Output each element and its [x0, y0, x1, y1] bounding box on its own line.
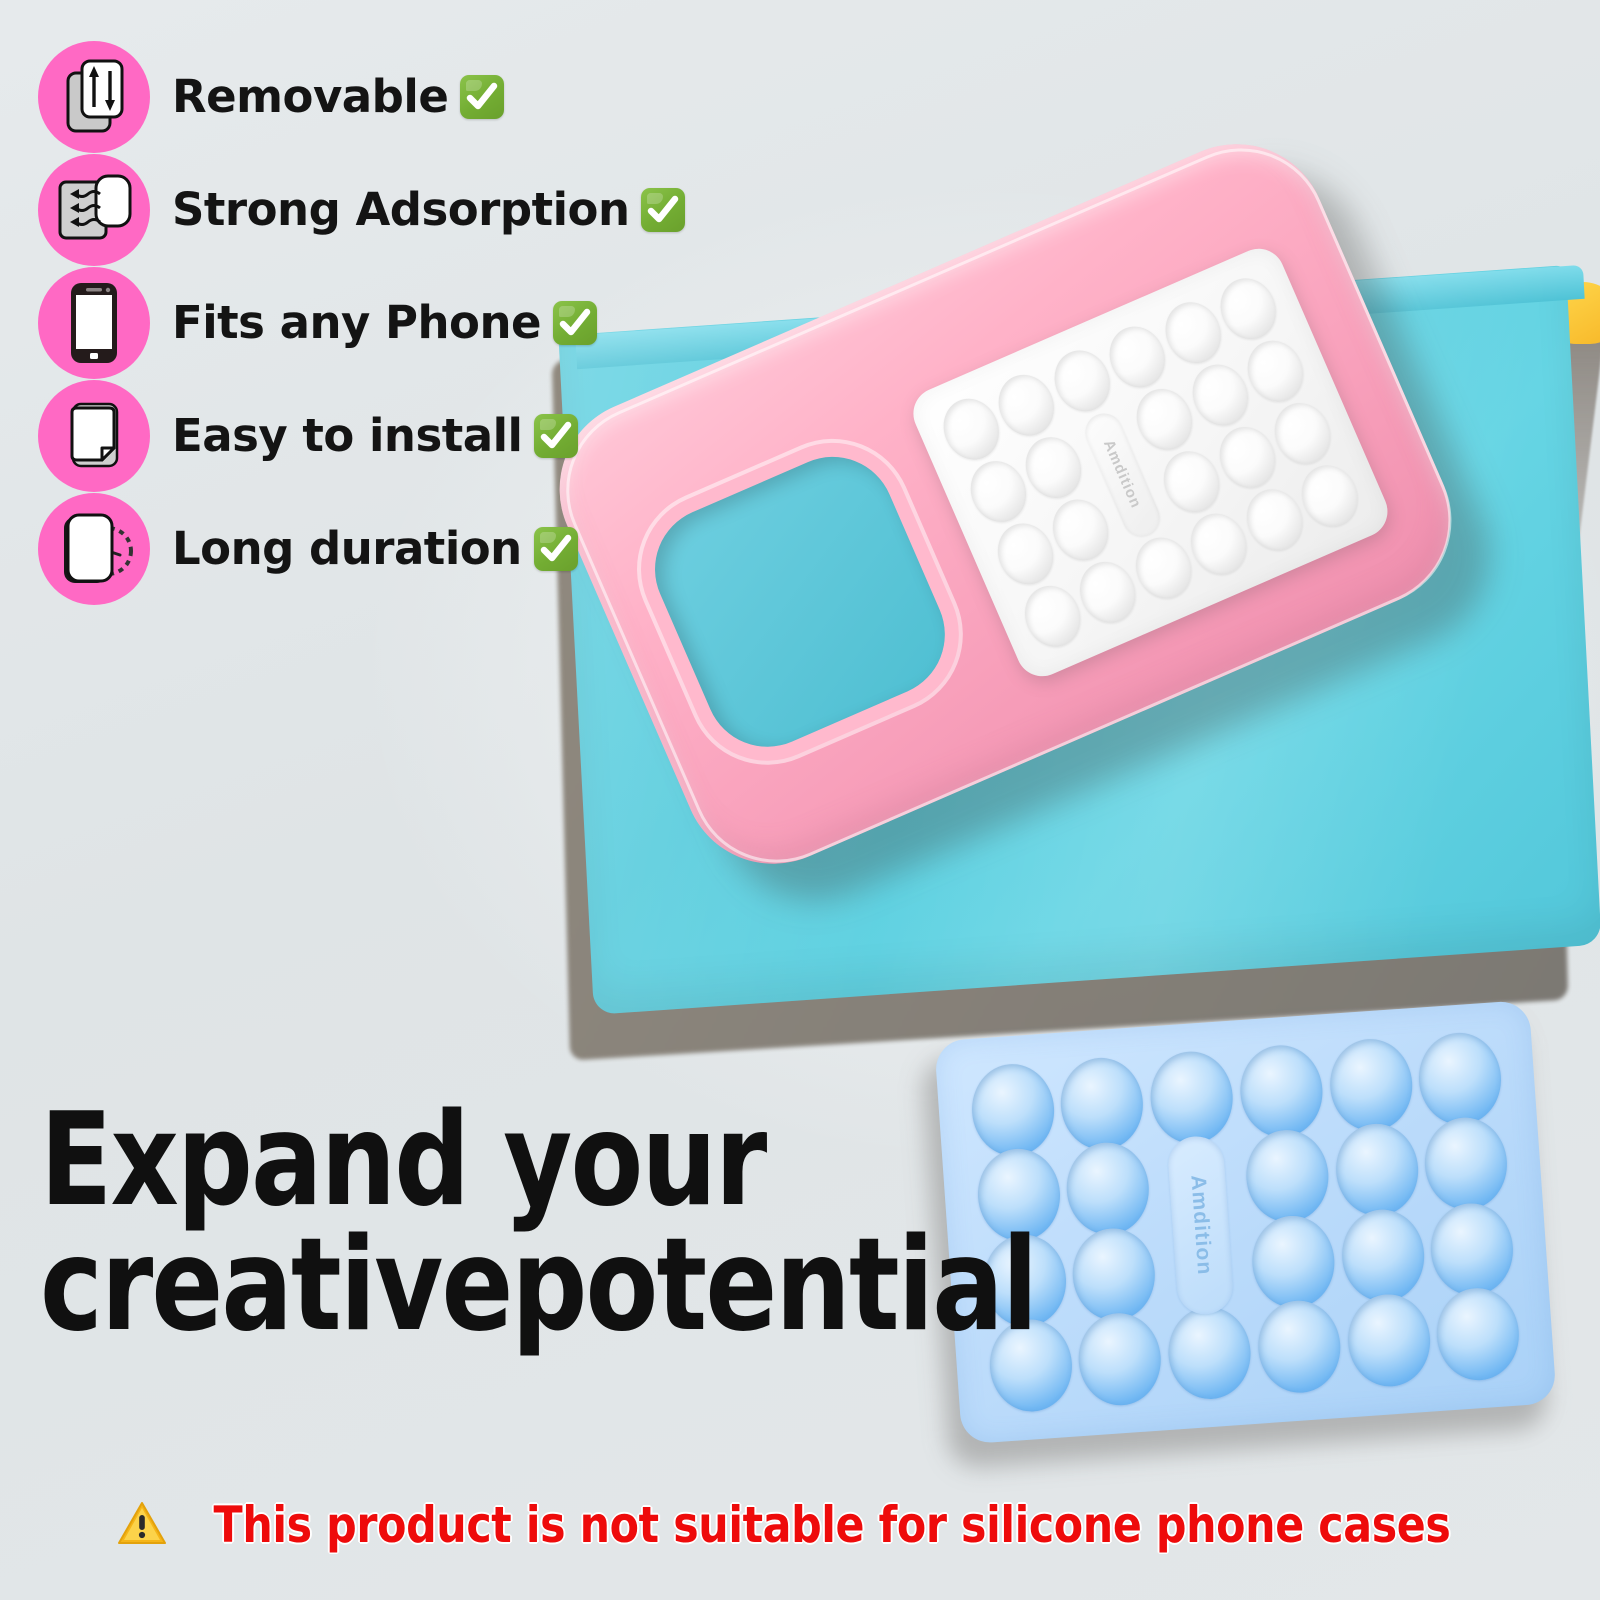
suction-cup [1016, 577, 1090, 655]
suction-cup [1237, 1043, 1325, 1140]
phone-clock-icon [38, 493, 150, 605]
warning-banner: This product is not suitable for silicon… [0, 1496, 1600, 1554]
adsorption-waves-icon [38, 154, 150, 266]
suction-cup [1127, 380, 1201, 458]
camera-cutout [635, 437, 964, 766]
smartphone-icon [38, 267, 150, 379]
warning-triangle-icon [117, 1500, 167, 1551]
suction-cup [934, 390, 1008, 468]
notebook-sheen [558, 265, 1600, 1015]
suction-cup [1249, 1213, 1337, 1310]
suction-cup [1126, 529, 1200, 607]
yellow-object [1548, 282, 1600, 344]
suction-cup [988, 515, 1062, 593]
blue-pad-brand-text: Amdition [1185, 1174, 1216, 1276]
suction-cup [1265, 394, 1339, 472]
feature-label-easy-to-install: Easy to install [172, 409, 578, 462]
blue-suction-cups [934, 1000, 1529, 1042]
suction-cup [961, 452, 1035, 530]
feature-row-strong-adsorption: Strong Adsorption [38, 153, 678, 266]
suction-cup [1344, 1291, 1432, 1388]
cyan-notebook [558, 265, 1600, 1015]
feature-label-removable: Removable [172, 70, 504, 123]
suction-cup [1017, 428, 1091, 506]
feature-text: Fits any Phone [172, 296, 541, 349]
feature-label-fits-any-phone: Fits any Phone [172, 296, 597, 349]
suction-cup [969, 1062, 1057, 1159]
peeling-film-icon [38, 380, 150, 492]
suction-cup [1422, 1115, 1510, 1212]
feature-label-long-duration: Long duration [172, 522, 578, 575]
check-mark-button-icon [534, 414, 578, 458]
suction-cup [1211, 269, 1285, 347]
suction-cup [1070, 1225, 1158, 1322]
suction-cup [1044, 491, 1118, 569]
product-infographic: Amdition Amdition [0, 0, 1600, 1600]
suction-cup [1255, 1298, 1343, 1395]
suction-cup [1238, 332, 1312, 410]
suction-cup [1339, 1206, 1427, 1303]
white-pad-brand-label: Amdition [1080, 408, 1166, 542]
phone-case-shadow [567, 144, 1518, 930]
suction-cup [1428, 1200, 1516, 1297]
suction-cup [1156, 293, 1230, 371]
suction-cup [1064, 1140, 1152, 1237]
suction-cup [1148, 1049, 1236, 1146]
suction-cup [1243, 1128, 1331, 1225]
feature-list: Removable [38, 40, 678, 605]
white-suction-pad: Amdition [905, 241, 1395, 685]
headline-line-2: creativepotential [40, 1223, 868, 1348]
feature-text: Strong Adsorption [172, 183, 629, 236]
warning-text: This product is not suitable for silicon… [214, 1496, 1451, 1554]
check-mark-button-icon [641, 188, 685, 232]
check-mark-button-icon [460, 75, 504, 119]
suction-cup [989, 366, 1063, 444]
suction-cup [1210, 418, 1284, 496]
notebook-spine [575, 265, 1584, 369]
feature-row-fits-any-phone: Fits any Phone [38, 266, 678, 379]
removable-card-arrows-icon [38, 41, 150, 153]
suction-cup [1333, 1122, 1421, 1219]
suction-cup [1293, 457, 1367, 535]
notebook-shadow [552, 299, 1568, 1060]
suction-cup [1327, 1037, 1415, 1134]
suction-cup [1434, 1285, 1522, 1382]
suction-cup [1416, 1030, 1504, 1127]
suction-cup [1076, 1310, 1164, 1407]
suction-cup [1100, 317, 1174, 395]
suction-cup [1155, 443, 1229, 521]
blue-pad-brand-label: Amdition [1167, 1135, 1235, 1316]
suction-cup [1045, 342, 1119, 420]
phone-case-rim [539, 121, 1478, 889]
suction-cup [1183, 356, 1257, 434]
suction-cup [1165, 1304, 1253, 1401]
feature-text: Easy to install [172, 409, 522, 462]
feature-row-long-duration: Long duration [38, 492, 678, 605]
suction-cup [1237, 481, 1311, 559]
pink-phone-case: Amdition [531, 108, 1545, 1002]
suction-cup [1058, 1055, 1146, 1152]
yellow-object-shadow [1452, 300, 1600, 600]
feature-row-easy-to-install: Easy to install [38, 379, 678, 492]
feature-text: Removable [172, 70, 448, 123]
suction-cup [1071, 553, 1145, 631]
feature-label-strong-adsorption: Strong Adsorption [172, 183, 685, 236]
feature-row-removable: Removable [38, 40, 678, 153]
check-mark-button-icon [553, 301, 597, 345]
suction-cup [1182, 505, 1256, 583]
headline: Expand your creativepotential [40, 1098, 868, 1349]
feature-text: Long duration [172, 522, 522, 575]
white-pad-brand-text: Amdition [1100, 438, 1145, 512]
white-suction-cups [905, 241, 1395, 685]
check-mark-button-icon [534, 527, 578, 571]
